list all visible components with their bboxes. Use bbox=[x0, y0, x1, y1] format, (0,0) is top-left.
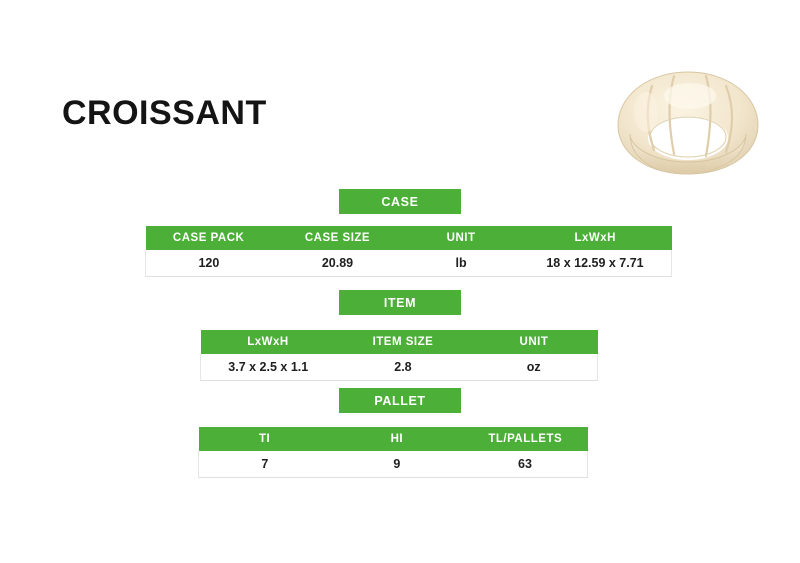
section-bar-pallet: PALLET bbox=[339, 388, 461, 413]
cell-case-pack: 120 bbox=[146, 250, 272, 277]
cell-case-size: 20.89 bbox=[272, 250, 404, 277]
table-row: 120 20.89 lb 18 x 12.59 x 7.71 bbox=[146, 250, 672, 277]
column-header-item-size: ITEM SIZE bbox=[335, 330, 470, 354]
cell-hi: 9 bbox=[331, 451, 463, 478]
cell-tl-pallets: 63 bbox=[463, 451, 588, 478]
column-header-ti: TI bbox=[199, 427, 331, 451]
pallet-spec-table: TI HI TL/PALLETS 7 9 63 bbox=[198, 427, 588, 478]
case-spec-table: CASE PACK CASE SIZE UNIT LxWxH 120 20.89… bbox=[145, 226, 672, 277]
section-bar-item: ITEM bbox=[339, 290, 461, 315]
cell-lxwxh: 18 x 12.59 x 7.71 bbox=[519, 250, 672, 277]
column-header-hi: HI bbox=[331, 427, 463, 451]
croissant-product-photo bbox=[606, 62, 770, 184]
table-row: 7 9 63 bbox=[199, 451, 588, 478]
table-header-row: TI HI TL/PALLETS bbox=[199, 427, 588, 451]
column-header-item-unit: UNIT bbox=[470, 330, 597, 354]
column-header-item-lxwxh: LxWxH bbox=[201, 330, 336, 354]
table-header-row: LxWxH ITEM SIZE UNIT bbox=[201, 330, 598, 354]
item-spec-table: LxWxH ITEM SIZE UNIT 3.7 x 2.5 x 1.1 2.8… bbox=[200, 330, 598, 381]
table-row: 3.7 x 2.5 x 1.1 2.8 oz bbox=[201, 354, 598, 381]
column-header-case-pack: CASE PACK bbox=[146, 226, 272, 250]
table-header-row: CASE PACK CASE SIZE UNIT LxWxH bbox=[146, 226, 672, 250]
section-bar-case: CASE bbox=[339, 189, 461, 214]
cell-item-size: 2.8 bbox=[335, 354, 470, 381]
cell-unit: lb bbox=[403, 250, 519, 277]
page-title: CROISSANT bbox=[62, 96, 267, 130]
cell-item-unit: oz bbox=[470, 354, 597, 381]
column-header-lxwxh: LxWxH bbox=[519, 226, 672, 250]
column-header-case-size: CASE SIZE bbox=[272, 226, 404, 250]
cell-item-lxwxh: 3.7 x 2.5 x 1.1 bbox=[201, 354, 336, 381]
cell-ti: 7 bbox=[199, 451, 331, 478]
column-header-unit: UNIT bbox=[403, 226, 519, 250]
column-header-tl-pallets: TL/PALLETS bbox=[463, 427, 588, 451]
